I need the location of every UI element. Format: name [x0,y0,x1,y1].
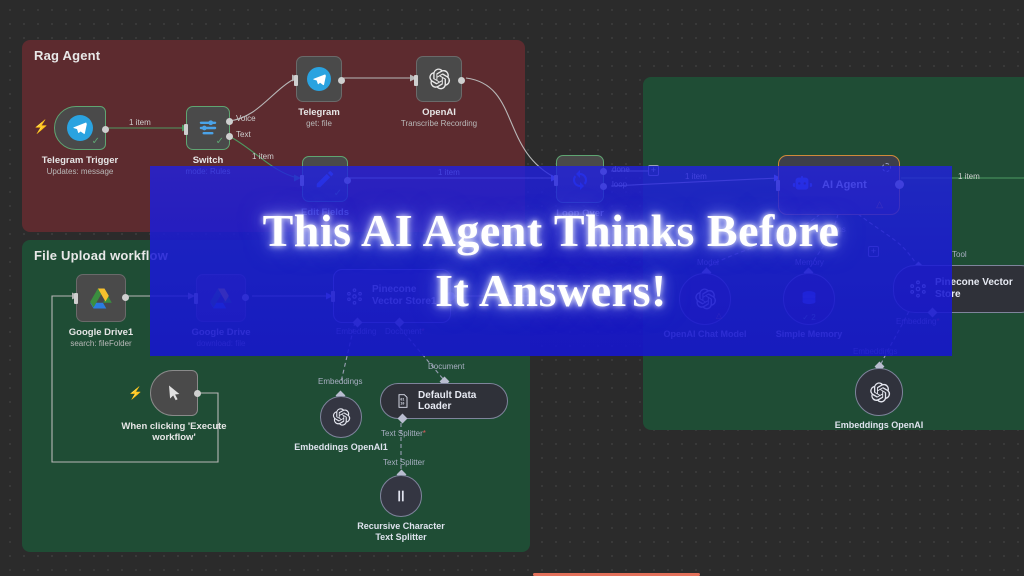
edge-label-1-item-text: 1 item [252,152,274,161]
group-label-file-upload: File Upload workflow [34,248,168,263]
node-when-clicking-execute-workflow[interactable]: When clicking 'Execute workflow' [150,370,198,416]
edge-label-1-item-agent-out: 1 item [958,172,980,181]
port-in[interactable] [414,75,418,86]
node-telegram[interactable]: Telegram get: file [296,56,342,102]
node-subtitle: search: fileFolder [70,339,131,348]
group-label-rag-agent: Rag Agent [34,48,100,63]
openai-icon [427,67,451,91]
node-google-drive1[interactable]: Google Drive1 search: fileFolder [76,274,126,322]
openai-icon [331,407,351,427]
port-out-voice[interactable] [226,118,233,125]
edge-label-tool: Tool [952,250,967,259]
edge-label-voice: Voice [236,114,256,123]
node-subtitle: Transcribe Recording [401,119,477,128]
edge-label-document-loader: Document [428,362,464,371]
node-title: Recursive Character Text Splitter [353,521,449,543]
port-out[interactable] [122,294,129,301]
node-telegram-trigger[interactable]: ✓ Telegram Trigger Updates: message [54,106,106,150]
cursor-icon [164,383,184,403]
splitter-icon [393,488,409,504]
node-embeddings-openai[interactable]: Embeddings OpenAI [855,368,903,416]
node-title: OpenAI [422,107,456,118]
overlay-title-line2: It Answers! [435,261,667,321]
node-switch[interactable]: ✓ Switch mode: Rules [186,106,230,150]
telegram-icon [307,67,331,91]
node-title: Embeddings OpenAI [835,420,924,431]
node-recursive-character-text-splitter[interactable]: Recursive Character Text Splitter [380,475,422,517]
google-drive-icon [88,285,114,311]
edge-label-1-item-trigger: 1 item [129,118,151,127]
edge-label-text-splitter: Text Splitter [383,458,425,467]
port-out[interactable] [338,77,345,84]
node-default-data-loader[interactable]: 01 10 Default Data Loader [380,383,508,419]
port-out-text[interactable] [226,133,233,140]
node-openai-transcribe[interactable]: OpenAI Transcribe Recording [416,56,462,102]
node-embeddings-openai1[interactable]: Embeddings OpenAI1 [320,396,362,438]
node-title: Google Drive1 [69,327,133,338]
port-out[interactable] [458,77,465,84]
node-title: Telegram Trigger [42,155,118,166]
port-in[interactable] [294,75,298,86]
node-inline-title: Default Data Loader [418,390,493,412]
telegram-icon [67,115,93,141]
edge-label-text-splitter-required: Text Splitter [381,429,426,438]
node-title: Embeddings OpenAI1 [293,442,389,453]
node-status-check-icon: ✓ [92,137,100,147]
node-status-check-icon: ✓ [216,137,224,147]
openai-icon [868,381,891,404]
port-in[interactable] [184,124,188,135]
svg-text:10: 10 [400,401,404,405]
port-out[interactable] [194,390,201,397]
trigger-bolt-icon: ⚡ [33,120,49,133]
title-overlay-banner: This AI Agent Thinks Before It Answers! [150,166,952,356]
edge-label-text: Text [236,130,251,139]
port-in[interactable] [74,293,78,304]
node-title: Telegram [298,107,340,118]
edge-label-embeddings-1: Embeddings [318,377,362,386]
node-title: When clicking 'Execute workflow' [119,421,229,443]
node-subtitle: get: file [306,119,332,128]
overlay-title-text: This AI Agent Thinks Before It Answers! [150,166,952,356]
node-title: Switch [193,155,224,166]
workflow-canvas[interactable]: Rag Agent File Upload workflow [0,0,1024,576]
manual-trigger-bolt-icon: ⚡ [128,387,143,399]
node-subtitle: Updates: message [47,167,114,176]
port-out[interactable] [102,126,109,133]
overlay-title-line1: This AI Agent Thinks Before [263,201,840,261]
binary-file-icon: 01 10 [395,393,411,409]
